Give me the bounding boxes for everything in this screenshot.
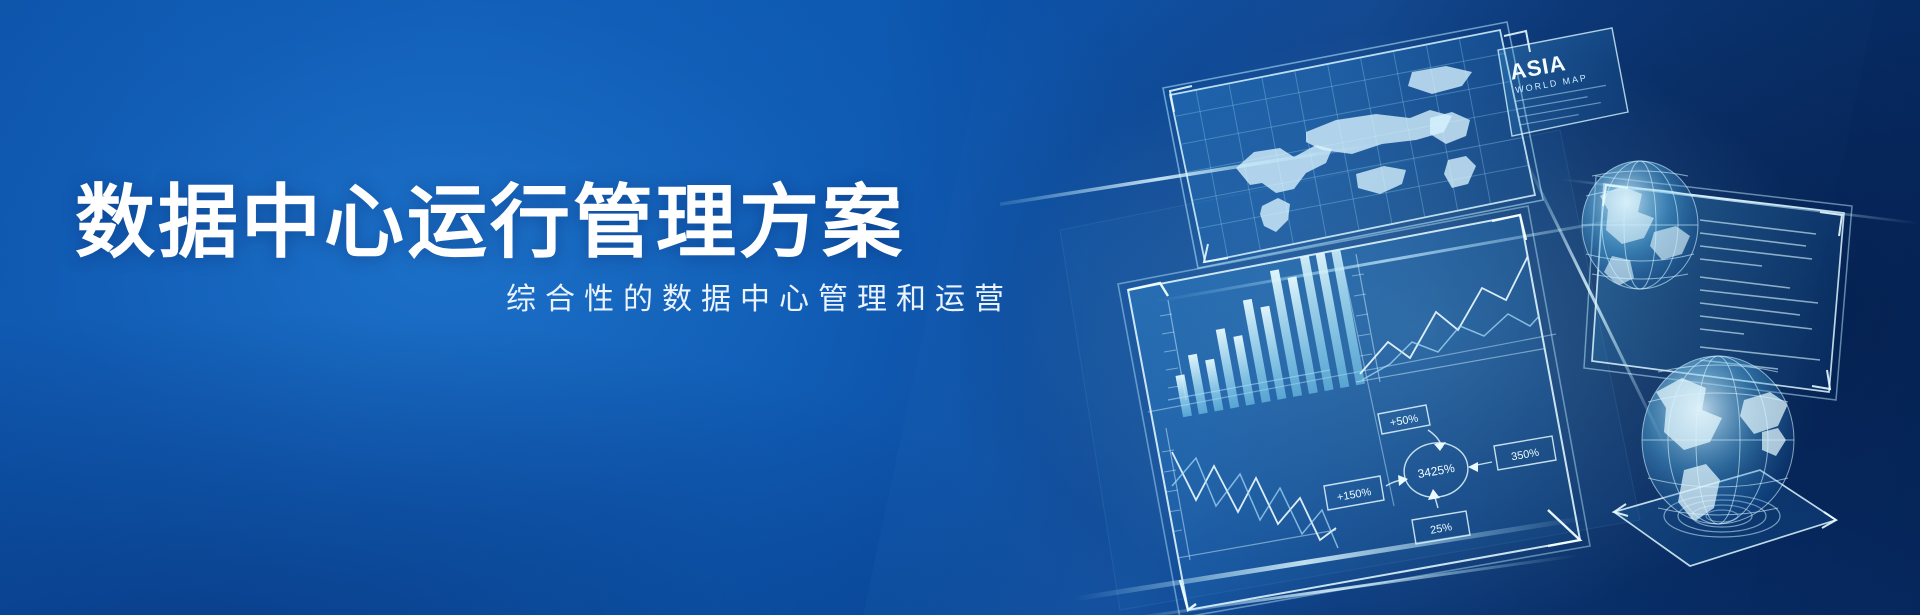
page-subtitle: 综合性的数据中心管理和运营 [75, 285, 1035, 315]
page-title: 数据中心运行管理方案 [75, 183, 1035, 263]
hero-banner: 数据中心运行管理方案 综合性的数据中心管理和运营 [0, 0, 1920, 615]
banner-text-block: 数据中心运行管理方案 综合性的数据中心管理和运营 [75, 183, 1035, 315]
